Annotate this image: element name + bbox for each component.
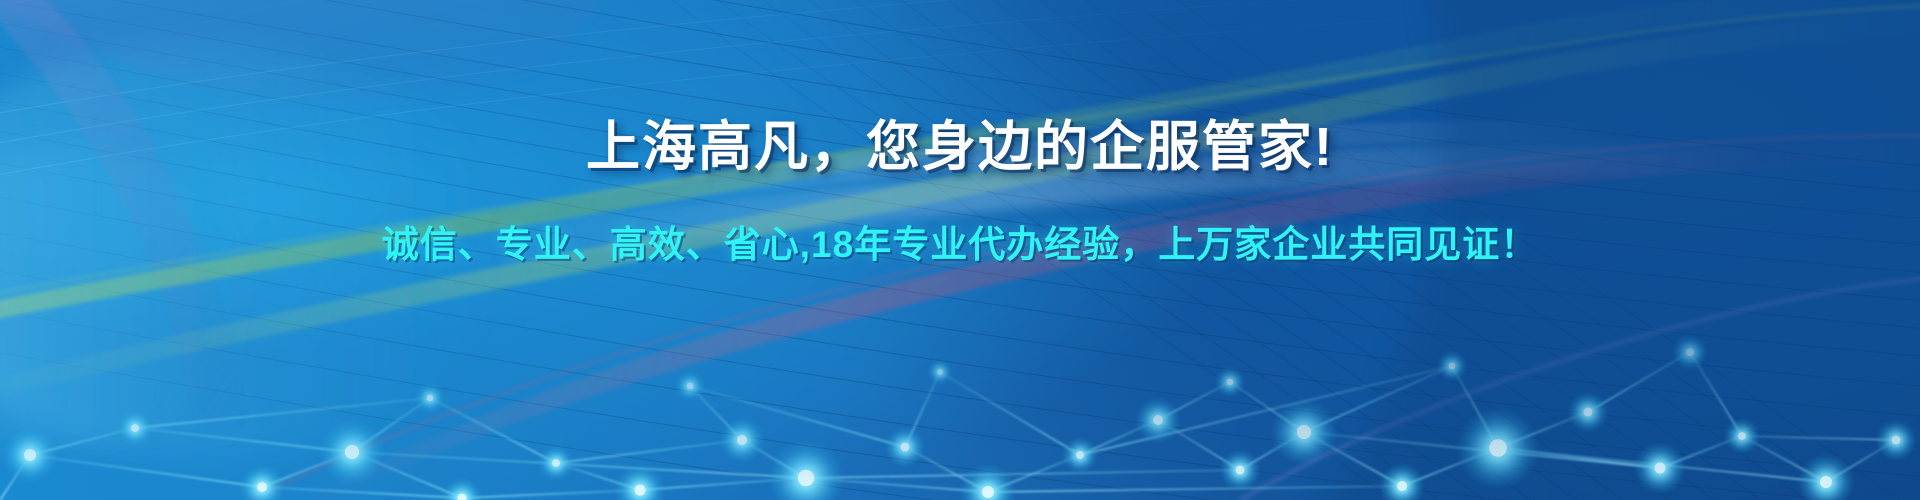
hero-banner: 上海高凡，您身边的企服管家! 诚信、专业、高效、省心,18年专业代办经验，上万家… [0,0,1920,500]
banner-content: 上海高凡，您身边的企服管家! 诚信、专业、高效、省心,18年专业代办经验，上万家… [0,0,1920,500]
banner-subline: 诚信、专业、高效、省心,18年专业代办经验，上万家企业共同见证！ [382,177,1538,266]
banner-headline: 上海高凡，您身边的企服管家! [586,0,1334,177]
